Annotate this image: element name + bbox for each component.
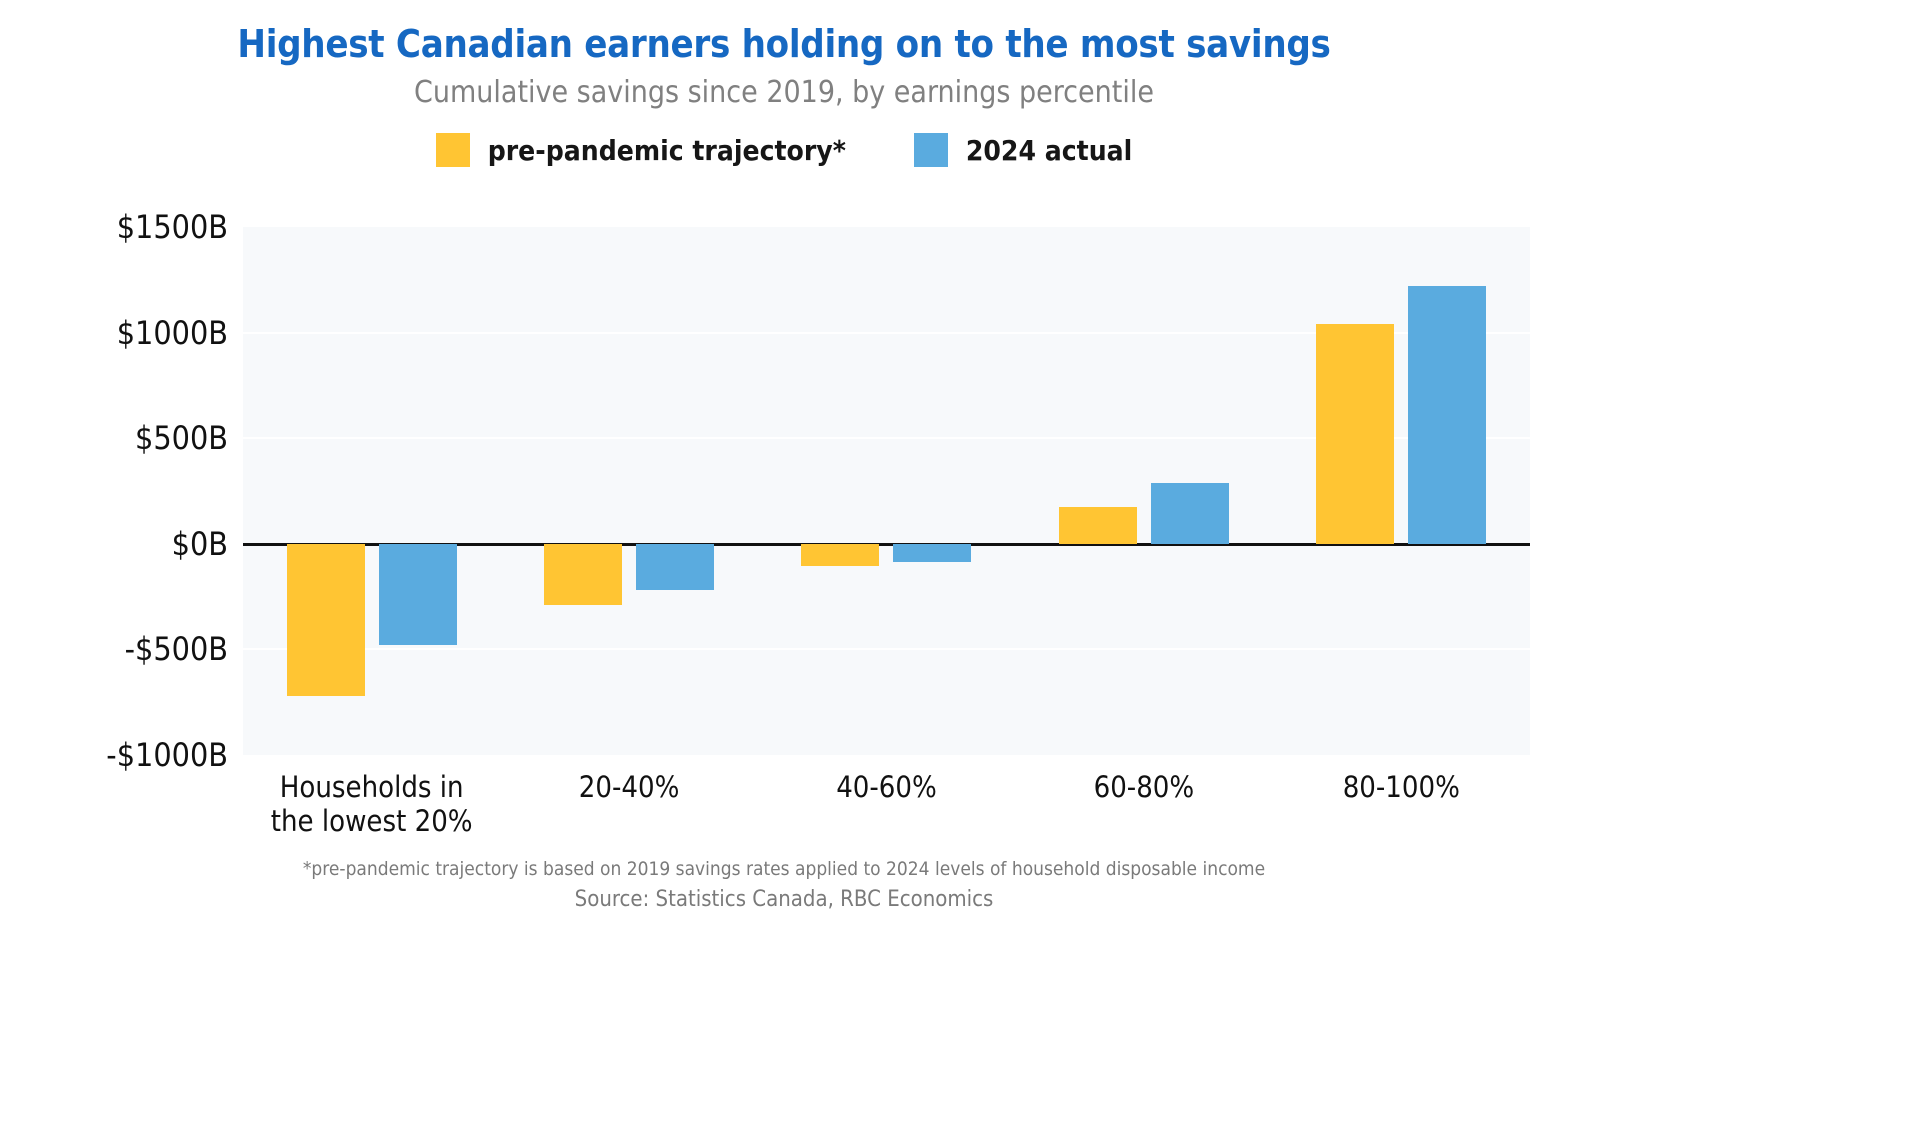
x-axis-tick-line: 80-100% [1241, 770, 1561, 804]
x-axis-tick-line: the lowest 20% [212, 804, 532, 838]
bar-2024-actual[interactable] [379, 544, 457, 645]
y-axis-tick-label: $1500B [0, 208, 228, 246]
chart-page: Highest Canadian earners holding on to t… [0, 0, 1920, 1127]
bar-pre-pandemic[interactable] [544, 544, 622, 605]
bar-pre-pandemic[interactable] [1316, 324, 1394, 544]
bar-group [1273, 227, 1530, 755]
y-axis-tick-label: $0B [0, 525, 228, 563]
bar-2024-actual[interactable] [1151, 483, 1229, 544]
bar-pre-pandemic[interactable] [287, 544, 365, 696]
y-axis-tick-label: -$1000B [0, 736, 228, 774]
footnote-source: Source: Statistics Canada, RBC Economics [0, 887, 1568, 912]
bar-pre-pandemic[interactable] [1059, 507, 1137, 544]
bar-group [1015, 227, 1272, 755]
bar-series-layer [243, 227, 1530, 755]
plot-wrapper: $1500B$1000B$500B$0B-$500B-$1000B Househ… [0, 0, 1920, 1127]
y-axis-tick-label: $500B [0, 419, 228, 457]
bar-group [500, 227, 757, 755]
y-axis-tick-label: -$500B [0, 630, 228, 668]
bar-group [758, 227, 1015, 755]
bar-2024-actual[interactable] [893, 544, 971, 562]
y-axis-tick-label: $1000B [0, 314, 228, 352]
bar-group [243, 227, 500, 755]
x-axis-tick-label: 80-100% [1241, 770, 1561, 804]
bar-pre-pandemic[interactable] [801, 544, 879, 566]
bar-2024-actual[interactable] [636, 544, 714, 590]
footnote-method: *pre-pandemic trajectory is based on 201… [0, 858, 1568, 880]
bar-2024-actual[interactable] [1408, 286, 1486, 544]
